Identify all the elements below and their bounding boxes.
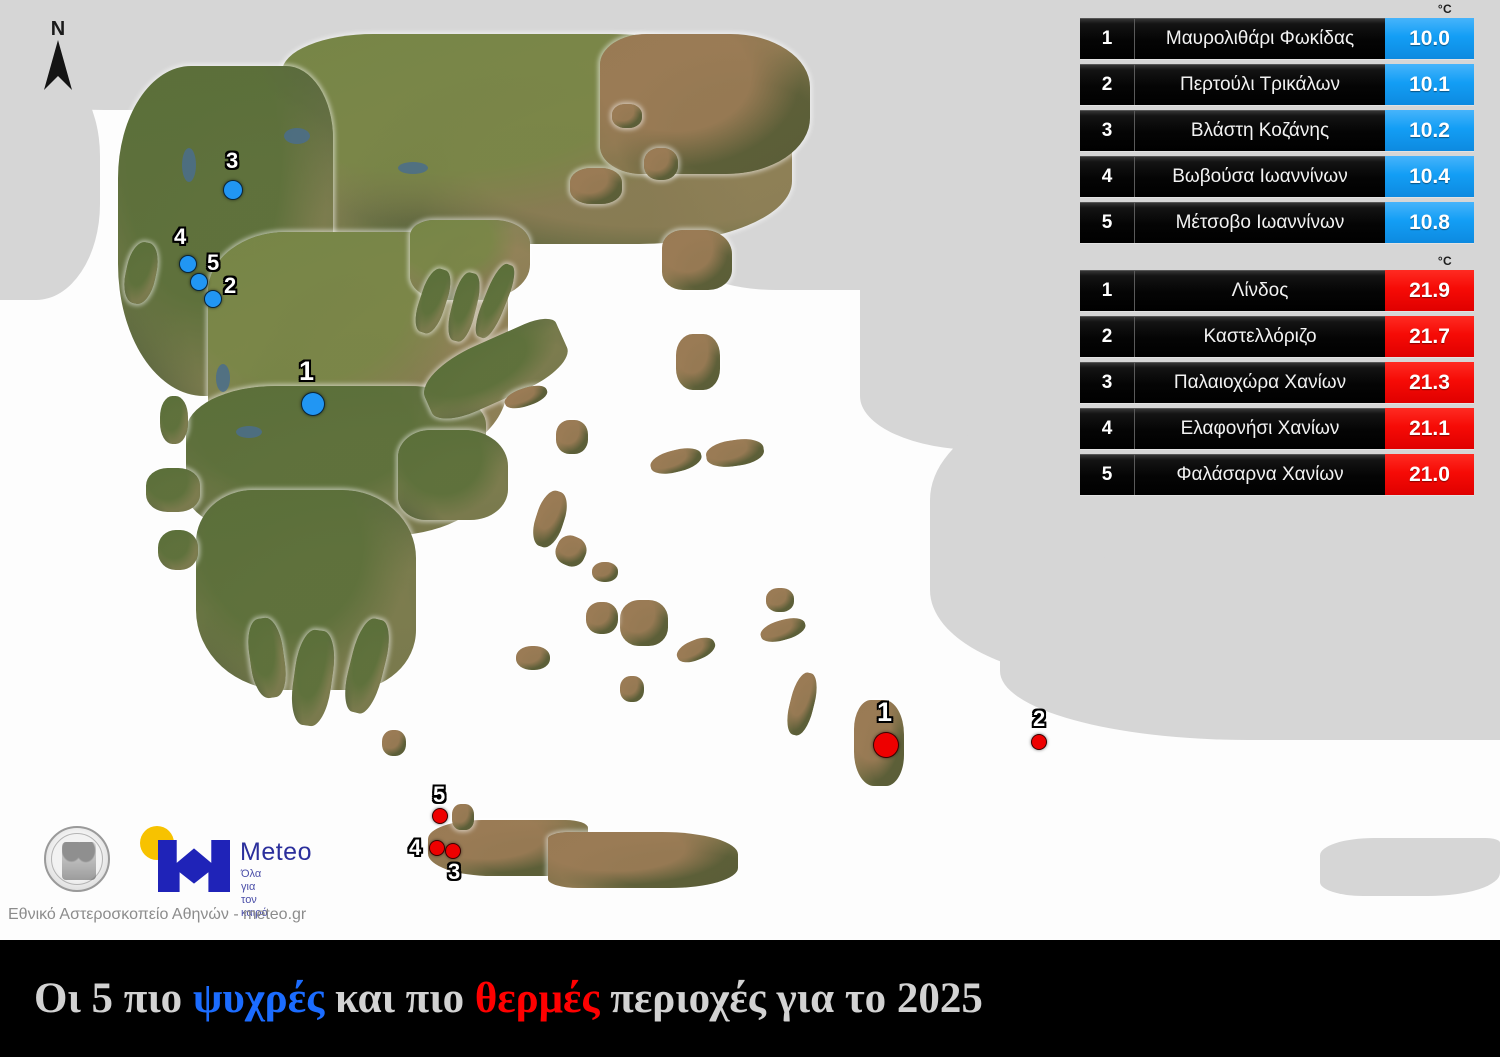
row-name: Βωβούσα Ιωαννίνων: [1135, 156, 1385, 197]
warm-marker-label: 3: [448, 861, 459, 883]
lake-prespa: [182, 148, 196, 182]
caption-bar: Οι 5 πιο ψυχρές και πιο θερμές περιοχές …: [0, 940, 1500, 1057]
cold-marker-dot[interactable]: [190, 273, 208, 291]
naxos-terrain: [620, 600, 668, 646]
lake-volvi: [398, 162, 428, 174]
cold-marker-label: 3: [226, 150, 237, 172]
kefalonia-terrain: [146, 468, 200, 512]
warm-marker-dot[interactable]: [873, 732, 899, 758]
albania-landmass: [0, 60, 100, 300]
credit-text: Εθνικό Αστεροσκοπείο Αθηνών - meteo.gr: [8, 906, 428, 924]
turkey-coast-mid: [1000, 590, 1500, 740]
cold-unit-label: °C: [1438, 2, 1452, 16]
noa-seal-logo: [44, 826, 110, 892]
cold-ranking-table: 1 Μαυρολιθάρι Φωκίδας 10.0 2 Περτούλι Τρ…: [1080, 18, 1474, 248]
row-rank: 3: [1080, 362, 1135, 403]
warm-marker-dot[interactable]: [445, 843, 461, 859]
caption-part3: περιοχές για το 2025: [600, 975, 983, 1022]
table-row[interactable]: 5 Φαλάσαρνα Χανίων 21.0: [1080, 454, 1474, 495]
chios-terrain: [676, 334, 720, 390]
warm-marker-dot[interactable]: [1031, 734, 1047, 750]
row-name: Ελαφονήσι Χανίων: [1135, 408, 1385, 449]
attica-terrain: [398, 430, 508, 520]
cold-marker-label: 5: [207, 252, 218, 274]
row-value: 10.2: [1385, 110, 1474, 151]
row-name: Παλαιοχώρα Χανίων: [1135, 362, 1385, 403]
row-name: Μαυρολιθάρι Φωκίδας: [1135, 18, 1385, 59]
table-row[interactable]: 1 Μαυρολιθάρι Φωκίδας 10.0: [1080, 18, 1474, 59]
cold-marker-label: 4: [174, 226, 185, 248]
row-name: Βλάστη Κοζάνης: [1135, 110, 1385, 151]
warm-marker-label: 2: [1033, 708, 1044, 730]
cold-marker-dot[interactable]: [301, 392, 325, 416]
row-rank: 2: [1080, 316, 1135, 357]
skyros-terrain: [556, 420, 588, 454]
table-row[interactable]: 4 Βωβούσα Ιωαννίνων 10.4: [1080, 156, 1474, 197]
seal-figures-icon: [62, 842, 96, 880]
table-row[interactable]: 1 Λίνδος 21.9: [1080, 270, 1474, 311]
table-row[interactable]: 3 Παλαιοχώρα Χανίων 21.3: [1080, 362, 1474, 403]
lake-vegoritida: [284, 128, 310, 144]
warm-ranking-table: 1 Λίνδος 21.9 2 Καστελλόριζο 21.7 3 Παλα…: [1080, 270, 1474, 500]
caption-text: Οι 5 πιο ψυχρές και πιο θερμές περιοχές …: [34, 974, 983, 1023]
row-rank: 2: [1080, 64, 1135, 105]
row-rank: 4: [1080, 408, 1135, 449]
crete-terrain-east: [548, 832, 738, 888]
lake-kremasta: [216, 364, 230, 392]
table-row[interactable]: 2 Περτούλι Τρικάλων 10.1: [1080, 64, 1474, 105]
row-name: Καστελλόριζο: [1135, 316, 1385, 357]
mykonos-terrain: [592, 562, 618, 582]
row-value: 10.1: [1385, 64, 1474, 105]
limnos-terrain: [570, 168, 622, 204]
infographic-root: N 1 2 3 4 5 1: [0, 0, 1500, 1057]
caption-part2: και πιο: [324, 975, 475, 1022]
caption-warm-word: θερμές: [475, 975, 600, 1022]
table-row[interactable]: 4 Ελαφονήσι Χανίων 21.1: [1080, 408, 1474, 449]
row-rank: 5: [1080, 454, 1135, 495]
milos-terrain: [516, 646, 550, 670]
warm-unit-label: °C: [1438, 254, 1452, 268]
cold-marker-label: 1: [299, 358, 313, 385]
row-value: 10.4: [1385, 156, 1474, 197]
lake-trichonida: [236, 426, 262, 438]
table-row[interactable]: 2 Καστελλόριζο 21.7: [1080, 316, 1474, 357]
row-value: 21.7: [1385, 316, 1474, 357]
row-name: Περτούλι Τρικάλων: [1135, 64, 1385, 105]
row-value: 21.9: [1385, 270, 1474, 311]
warm-marker-label: 5: [433, 784, 444, 806]
paros-terrain: [586, 602, 618, 634]
row-name: Μέτσοβο Ιωαννίνων: [1135, 202, 1385, 243]
cold-marker-dot[interactable]: [223, 180, 243, 200]
caption-cold-word: ψυχρές: [193, 975, 324, 1022]
caption-part1: Οι 5 πιο: [34, 975, 193, 1022]
lefkada-terrain: [160, 396, 188, 444]
warm-marker-dot[interactable]: [432, 808, 448, 824]
kythira-terrain: [382, 730, 406, 756]
cold-marker-dot[interactable]: [204, 290, 222, 308]
samothraki-terrain: [612, 104, 642, 128]
row-value: 21.3: [1385, 362, 1474, 403]
cold-marker-dot[interactable]: [179, 255, 197, 273]
row-value: 10.0: [1385, 18, 1474, 59]
table-row[interactable]: 3 Βλάστη Κοζάνης 10.2: [1080, 110, 1474, 151]
table-row[interactable]: 5 Μέτσοβο Ιωαννίνων 10.8: [1080, 202, 1474, 243]
row-value: 21.0: [1385, 454, 1474, 495]
row-rank: 4: [1080, 156, 1135, 197]
kalymnos-terrain: [766, 588, 794, 612]
map-canvas[interactable]: N 1 2 3 4 5 1: [0, 0, 1500, 940]
lesvos-terrain: [662, 230, 732, 290]
row-rank: 3: [1080, 110, 1135, 151]
cyprus-landmass: [1320, 838, 1500, 896]
row-name: Φαλάσαρνα Χανίων: [1135, 454, 1385, 495]
zakynthos-terrain: [158, 530, 198, 570]
row-value: 10.8: [1385, 202, 1474, 243]
compass-needle-icon: [44, 40, 72, 90]
compass-rose: N: [36, 18, 80, 92]
row-name: Λίνδος: [1135, 270, 1385, 311]
warm-marker-dot[interactable]: [429, 840, 445, 856]
row-rank: 5: [1080, 202, 1135, 243]
compass-north-label: N: [36, 18, 80, 40]
thasos-terrain: [644, 148, 678, 180]
warm-marker-label: 1: [877, 699, 891, 726]
row-value: 21.1: [1385, 408, 1474, 449]
meteo-wordmark: Meteo: [240, 838, 312, 867]
meteo-tagline-line1: Όλα για: [241, 868, 268, 894]
cold-marker-label: 2: [224, 275, 235, 297]
row-rank: 1: [1080, 18, 1135, 59]
crete-peninsula-akrotiri: [452, 804, 474, 830]
row-rank: 1: [1080, 270, 1135, 311]
santorini-terrain: [620, 676, 644, 702]
